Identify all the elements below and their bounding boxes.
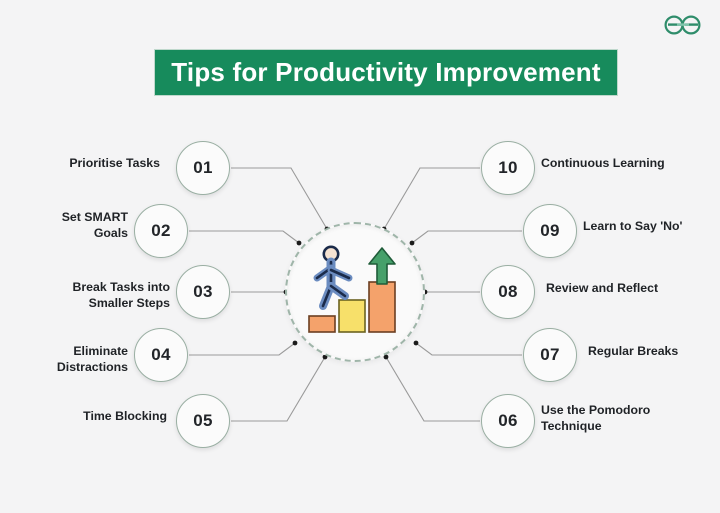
tip-number-06: 06	[498, 411, 518, 431]
tip-label-02: Set SMART Goals	[0, 209, 128, 241]
tip-number-01: 01	[193, 158, 213, 178]
tip-node-02[interactable]: 02	[134, 204, 188, 258]
tip-label-06: Use the Pomodoro Technique	[541, 402, 715, 434]
tip-node-09[interactable]: 09	[523, 204, 577, 258]
tip-label-09: Learn to Say 'No'	[583, 218, 720, 234]
tip-label-08: Review and Reflect	[546, 280, 720, 296]
tip-number-03: 03	[193, 282, 213, 302]
tip-number-02: 02	[151, 221, 171, 241]
tip-label-05: Time Blocking	[0, 408, 167, 424]
tip-number-08: 08	[498, 282, 518, 302]
tip-node-10[interactable]: 10	[481, 141, 535, 195]
tip-label-10: Continuous Learning	[541, 155, 719, 171]
person-climbing-growth-bars-icon	[305, 244, 409, 344]
tip-node-04[interactable]: 04	[134, 328, 188, 382]
tip-number-10: 10	[498, 158, 518, 178]
tip-node-06[interactable]: 06	[481, 394, 535, 448]
tip-node-03[interactable]: 03	[176, 265, 230, 319]
tip-number-07: 07	[540, 345, 560, 365]
tip-node-01[interactable]: 01	[176, 141, 230, 195]
tip-label-03: Break Tasks into Smaller Steps	[0, 279, 170, 311]
tip-label-01: Prioritise Tasks	[0, 155, 160, 171]
tip-label-04: Eliminate Distractions	[0, 343, 128, 375]
tip-number-05: 05	[193, 411, 213, 431]
tip-number-09: 09	[540, 221, 560, 241]
tip-label-07: Regular Breaks	[588, 343, 720, 359]
tip-node-08[interactable]: 08	[481, 265, 535, 319]
tip-node-05[interactable]: 05	[176, 394, 230, 448]
tip-node-07[interactable]: 07	[523, 328, 577, 382]
tip-number-04: 04	[151, 345, 171, 365]
infographic-canvas: Tips for Productivity Improvement	[0, 0, 720, 513]
center-hub	[285, 222, 425, 362]
